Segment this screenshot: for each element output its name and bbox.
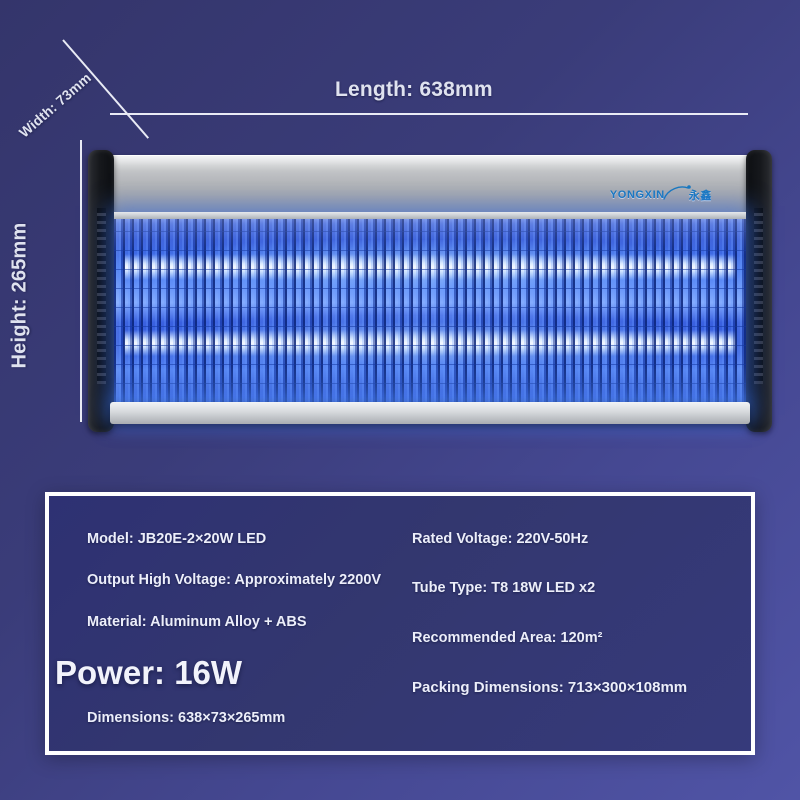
spec-tube-type: Tube Type: T8 18W LED x2 <box>406 579 731 598</box>
length-leader-line <box>110 113 748 115</box>
spec-power-heading: Power: 16W <box>55 656 406 689</box>
product-vent-right <box>754 208 763 384</box>
spec-material: Material: Aluminum Alloy + ABS <box>81 613 406 632</box>
brand-logo: YONGXIN 永鑫 <box>610 187 712 203</box>
spec-output-high-voltage: Output High Voltage: Approximately 2200V <box>81 571 406 590</box>
product-vent-left <box>97 208 106 384</box>
height-dimension-label: Height: 265mm <box>8 223 31 369</box>
specification-column-left: Model: JB20E-2×20W LED Output High Volta… <box>81 530 406 751</box>
brand-name-text: YONGXIN <box>610 189 665 201</box>
spec-model: Model: JB20E-2×20W LED <box>81 530 406 549</box>
width-leader-line <box>62 39 149 138</box>
spec-rated-voltage: Rated Voltage: 220V-50Hz <box>406 530 731 549</box>
length-dimension-label: Length: 638mm <box>335 78 493 102</box>
electric-grid-panel <box>114 212 746 409</box>
product-image-insect-killer-lamp: YONGXIN 永鑫 <box>88 150 772 434</box>
product-bottom-tray <box>110 402 750 424</box>
height-leader-line <box>80 140 82 422</box>
product-top-housing-bar: YONGXIN 永鑫 <box>96 155 764 213</box>
spec-recommended-area: Recommended Area: 120m² <box>406 629 731 648</box>
grid-shine-overlay <box>114 212 746 409</box>
specification-grid: Model: JB20E-2×20W LED Output High Volta… <box>49 496 751 751</box>
width-dimension-label: Width: 73mm <box>16 69 94 140</box>
spec-packing-dimensions: Packing Dimensions: 713×300×108mm <box>406 678 731 698</box>
spec-dimensions: Dimensions: 638×73×265mm <box>81 709 406 728</box>
swoosh-icon <box>668 189 686 201</box>
specification-column-right: Rated Voltage: 220V-50Hz Tube Type: T8 1… <box>406 530 731 751</box>
specification-panel: Model: JB20E-2×20W LED Output High Volta… <box>45 492 755 755</box>
